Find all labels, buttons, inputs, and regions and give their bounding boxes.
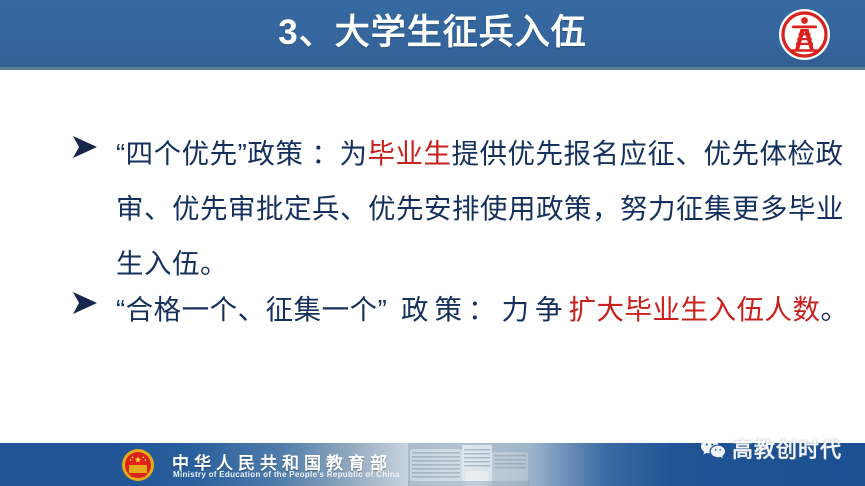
ministry-name-en: Ministry of Education of the People's Re… [173,470,400,479]
bullet-paragraph-1: “四个优先”政策 ：为毕业生提供优先报名应征、优先体检政审、优先审批定兵、优先安… [70,126,850,291]
ministry-building-photo [408,443,530,486]
bullet-item-1: “四个优先”政策 ：为毕业生提供优先报名应征、优先体检政审、优先审批定兵、优先安… [70,126,850,291]
wechat-icon [700,438,726,460]
watermark-text: 高教创时代 [732,434,842,464]
arrow-bullet-icon [70,134,104,164]
presentation-slide: 3、大学生征兵入伍 “四个优先”政策 ：为毕业生提供优先报名应征、优 [0,0,865,486]
arrow-bullet-icon [70,290,104,320]
bullet-item-2: “合格一个、征集一个” 政策：力争扩大毕业生入伍人数。 [70,282,850,337]
conscription-emblem [779,9,830,60]
slide-body: “四个优先”政策 ：为毕业生提供优先报名应征、优先体检政审、优先审批定兵、优先安… [0,70,865,443]
wechat-watermark: 高教创时代 [700,434,842,464]
bullet-2-segment-3: 。 [820,294,848,325]
china-national-emblem [120,447,156,483]
conscription-emblem-icon [779,9,830,60]
bullet-2-highlight-1: 扩大毕业生入伍人数 [568,294,820,325]
slide-title: 3、大学生征兵入伍 [0,8,865,58]
bullet-paragraph-2: “合格一个、征集一个” 政策：力争扩大毕业生入伍人数。 [70,282,850,337]
bullet-2-segment-1: “合格一个、征集一个” [116,294,387,325]
bullet-2-segment-2: 政策：力争 [387,294,568,325]
bullet-1-highlight-1: 毕业生 [367,138,451,169]
bullet-1-segment-1: “四个优先”政策 ：为 [116,138,367,169]
